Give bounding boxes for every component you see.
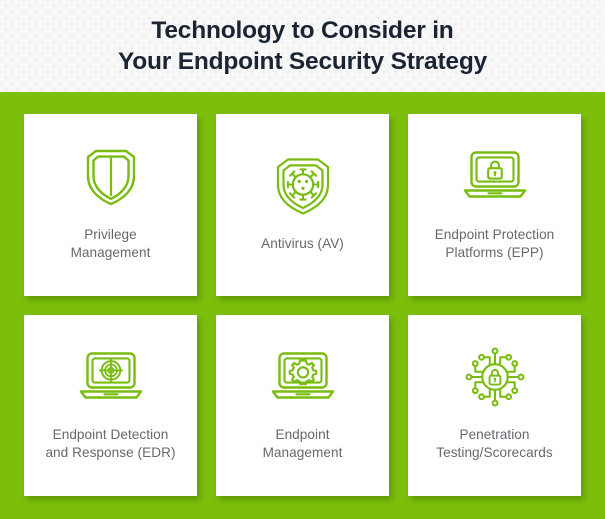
card-label: Endpoint Detection and Response (EDR) [45,426,175,462]
card-row: Endpoint Detection and Response (EDR) En… [24,315,581,497]
card-penetration-testing[interactable]: Penetration Testing/Scorecards [408,315,581,497]
shield-icon [83,146,139,208]
card-endpoint-detection-response[interactable]: Endpoint Detection and Response (EDR) [24,315,197,497]
circuit-lock-icon [464,346,526,408]
card-label: Penetration Testing/Scorecards [436,426,553,462]
infographic-page: Technology to Consider in Your Endpoint … [0,0,605,519]
card-label: Endpoint Management [263,426,343,462]
laptop-lock-icon [462,146,528,208]
card-endpoint-management[interactable]: Endpoint Management [216,315,389,497]
header-banner: Technology to Consider in Your Endpoint … [0,0,605,92]
laptop-radar-icon [78,346,144,408]
card-label: Endpoint Protection Platforms (EPP) [435,226,555,262]
card-antivirus[interactable]: Antivirus (AV) [216,114,389,296]
page-title: Technology to Consider in Your Endpoint … [118,15,487,77]
shield-virus-icon [274,155,332,217]
card-row: Privilege Management [24,114,581,296]
laptop-gear-icon [270,346,336,408]
card-label: Privilege Management [71,226,151,262]
card-label: Antivirus (AV) [261,235,344,253]
card-privilege-management[interactable]: Privilege Management [24,114,197,296]
cards-panel: Privilege Management [0,92,605,519]
card-endpoint-protection-platforms[interactable]: Endpoint Protection Platforms (EPP) [408,114,581,296]
